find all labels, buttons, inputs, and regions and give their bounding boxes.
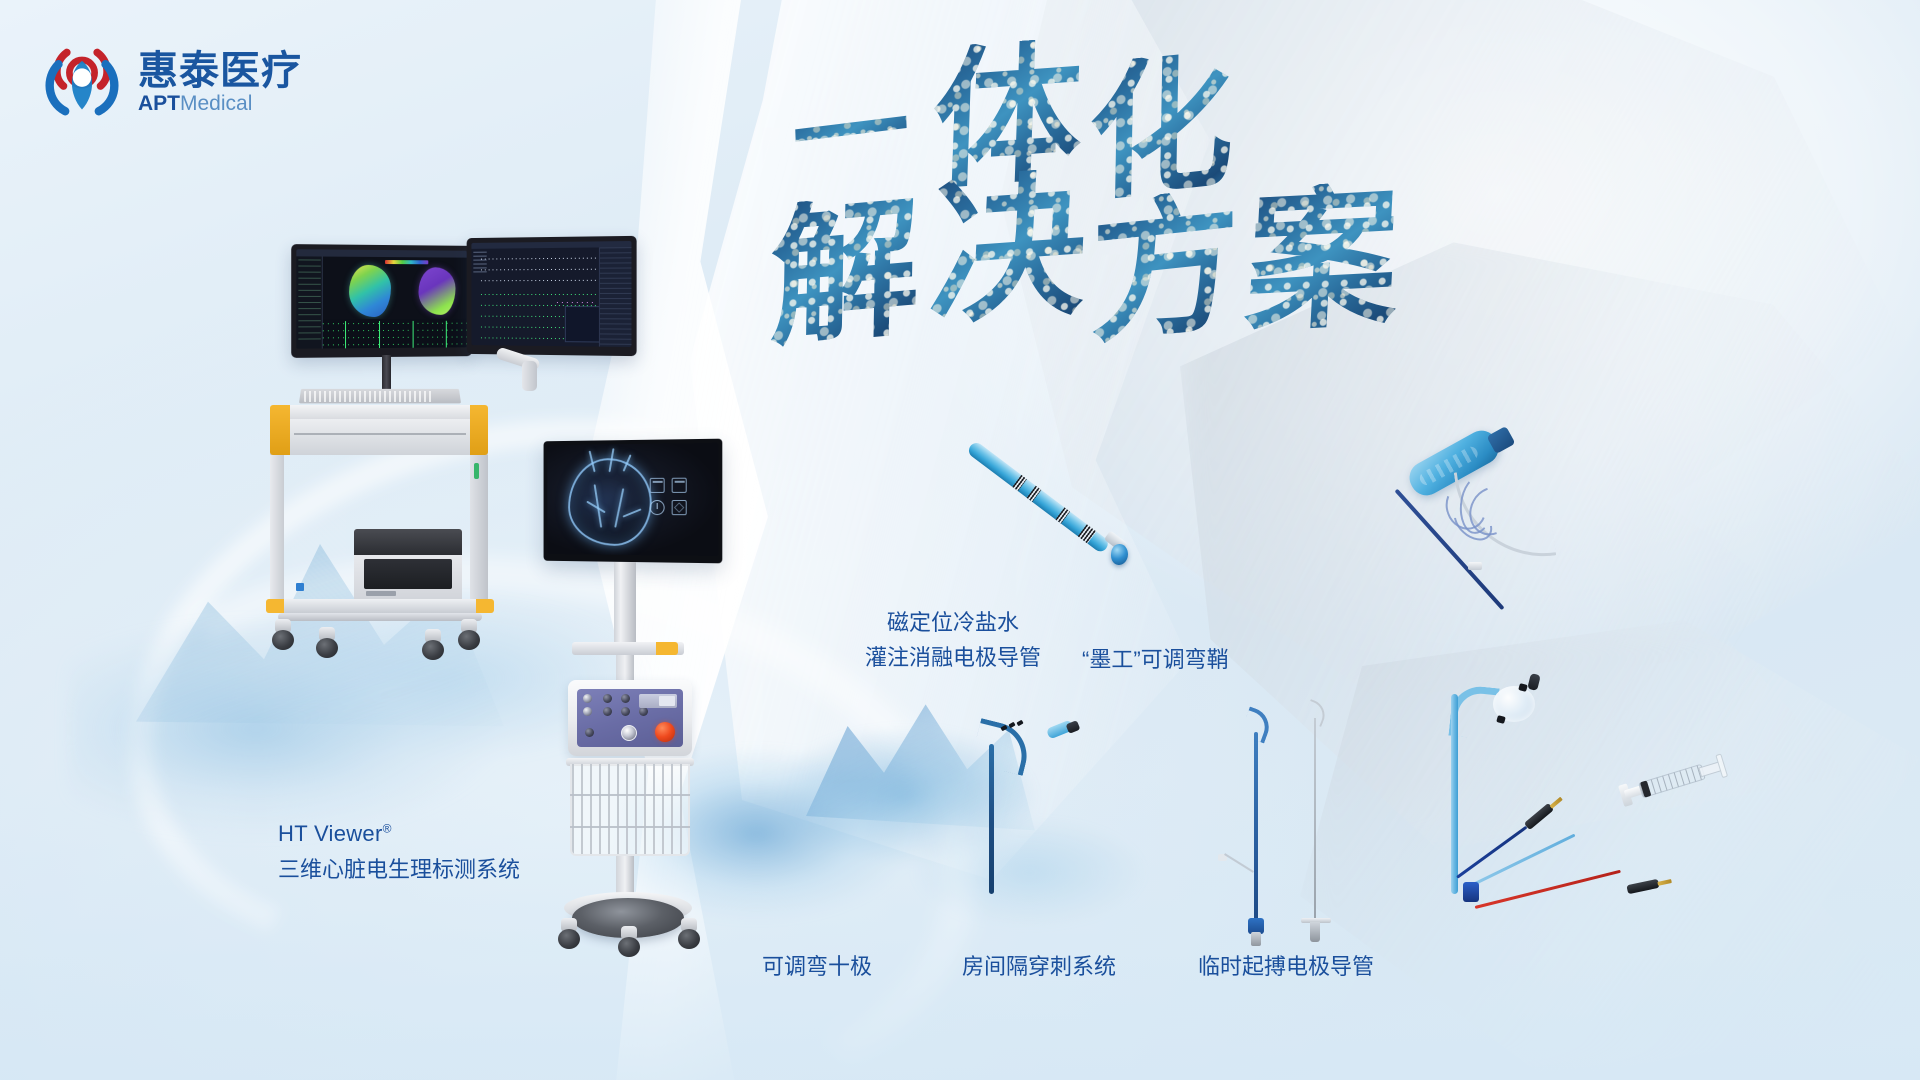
folder-icon[interactable]	[672, 478, 687, 493]
ablation-label-line1: 磁定位冷盐水	[865, 606, 1041, 641]
steerable-sheath	[1400, 420, 1660, 620]
logo-apt-text: APT	[138, 92, 180, 115]
cart-body	[258, 393, 498, 639]
calligraphy-char-an: 案	[1242, 180, 1402, 353]
display-pole-upper	[614, 562, 636, 650]
heart-map-left	[349, 265, 391, 317]
generator-display	[639, 694, 677, 708]
label-pacing-catheter: 临时起搏电极导管	[1198, 950, 1374, 983]
monitor-arm-joint	[522, 361, 537, 391]
logo-medical-text: Medical	[180, 92, 252, 115]
red-connector-wire	[1475, 870, 1621, 909]
label-steerable-sheath: “墨工”可调弯鞘	[1082, 643, 1229, 676]
ht-viewer-name-cn: 三维心脏电生理标测系统	[278, 852, 520, 888]
recording-monitor[interactable]	[467, 236, 637, 356]
heart-display-cart	[540, 440, 790, 1050]
3d-cardiac-mapping-screen	[296, 249, 467, 348]
rf-generator-control-panel[interactable]	[577, 689, 683, 747]
catheter-hub	[1463, 882, 1479, 902]
rf-generator	[568, 680, 692, 756]
display-cart-caster	[558, 918, 580, 948]
cart-column-right	[470, 455, 488, 607]
inflation-lumen-tube	[1466, 834, 1575, 889]
shelf-accent-right	[476, 599, 494, 613]
display-control-icons[interactable]	[650, 478, 708, 516]
transseptal-puncture-system	[1218, 692, 1378, 942]
display-cart-caster	[618, 926, 640, 956]
heart-visualization-display[interactable]	[544, 439, 723, 564]
inflation-syringe	[1616, 752, 1729, 809]
cart-accent-right	[470, 405, 488, 455]
calligraphy-char-jie: 解	[769, 191, 921, 355]
transseptal-needle	[1314, 718, 1316, 924]
heart-map-right	[419, 267, 456, 315]
calligraphy-char-fang: 方	[1090, 186, 1239, 357]
pin-connector-red	[1626, 879, 1659, 894]
sheath-hemostasis-valve	[1464, 560, 1486, 572]
catheter-shaft	[966, 440, 1111, 554]
cart-accent-left	[270, 405, 290, 455]
cart-base	[272, 613, 488, 629]
cart-caster	[458, 619, 480, 649]
ablation-electrode-tip	[1111, 544, 1128, 565]
temporary-pacing-catheter	[1445, 660, 1775, 920]
logo-wordmark: 惠泰医疗 APTMedical	[138, 47, 302, 114]
headline-calligraphy: 一 体 化 解 决 方 案	[770, 40, 1490, 370]
distal-electrode	[1527, 673, 1541, 691]
steerable-decapolar-catheter	[955, 720, 1085, 920]
keyboard[interactable]	[304, 391, 432, 402]
label-decapolar-catheter: 可调弯十极	[762, 950, 872, 983]
irrigated-ablation-catheter	[975, 440, 1175, 600]
transseptal-sheath	[1254, 732, 1258, 922]
printer	[354, 529, 462, 605]
mesh-icon[interactable]	[672, 500, 687, 515]
poster-canvas: 惠泰医疗 APTMedical 一 体 化 解 决 方 案	[0, 0, 1920, 1080]
ecg-recording-screen	[471, 241, 631, 347]
brand-logo[interactable]: 惠泰医疗 APTMedical	[40, 18, 340, 143]
power-icon[interactable]	[650, 500, 665, 515]
generator-main-port[interactable]	[621, 725, 637, 741]
ecg-trace-panel	[323, 319, 467, 349]
apt-medical-heart-logo	[40, 39, 124, 123]
display-cart-base	[554, 892, 704, 950]
catheter-shaft	[989, 744, 994, 894]
ablation-label-line2: 灌注消融电极导管	[865, 641, 1041, 676]
cart-caster	[316, 627, 338, 657]
add-folder-icon[interactable]	[650, 478, 665, 493]
registered-trademark-symbol: ®	[383, 822, 392, 836]
calligraphy-char-jue: 决	[926, 166, 1091, 354]
sideport-tubing	[1224, 853, 1254, 873]
cart-lower-shelf	[266, 599, 494, 613]
display-tray-accent	[656, 642, 678, 655]
heart-illustration	[568, 458, 652, 546]
needle-hub	[1310, 922, 1320, 942]
drawer-seam	[294, 433, 466, 435]
ht-viewer-name-en: HT Viewer®	[278, 816, 520, 852]
pin-connector-blue	[1524, 803, 1554, 830]
deflection-arc-diagram	[1440, 470, 1530, 560]
sheath-hub-extension	[1251, 932, 1261, 946]
label-ablation-catheter: 磁定位冷盐水 灌注消融电极导管	[865, 606, 1041, 676]
power-indicator-light	[474, 463, 479, 479]
needle-curved-tip	[1303, 699, 1330, 727]
cart-caster	[272, 619, 294, 649]
logo-chinese-name: 惠泰医疗	[138, 51, 302, 91]
cart-drawer-front	[270, 419, 488, 455]
cart-storage-basket	[570, 764, 690, 856]
display-cart-caster	[678, 918, 700, 948]
computer-badge	[296, 583, 304, 591]
mapping-monitor[interactable]	[291, 244, 472, 358]
cart-caster	[422, 629, 444, 659]
blue-connector-wire	[1456, 826, 1527, 879]
label-transseptal-system: 房间隔穿刺系统	[962, 950, 1116, 983]
label-ht-viewer: HT Viewer® 三维心脏电生理标测系统	[278, 816, 520, 887]
red-emergency-button[interactable]	[655, 722, 675, 742]
shelf-accent-left	[266, 599, 284, 613]
logo-english-name: APTMedical	[138, 93, 302, 114]
cart-column-left	[270, 455, 284, 607]
pacing-catheter-shaft	[1451, 694, 1458, 894]
